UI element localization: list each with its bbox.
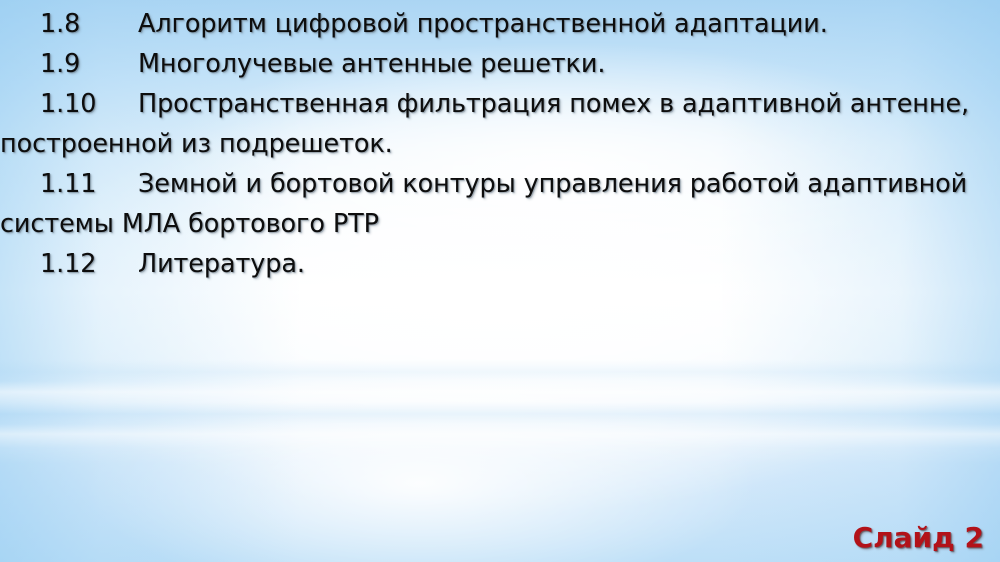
outline-item-number: 1.9 [40, 44, 138, 84]
outline-item-number: 1.12 [40, 244, 138, 284]
slide-number-label: Слайд 2 [853, 521, 984, 554]
outline-item-number: 1.11 [40, 164, 138, 204]
outline-item-1-11-wrap: системы МЛА бортового РТР [0, 204, 1000, 244]
outline-item-1-10-wrap: построенной из подрешеток. [0, 124, 1000, 164]
outline-item-text: Пространственная фильтрация помех в адап… [138, 89, 969, 119]
presentation-slide: 1.8Алгоритм цифровой пространственной ад… [0, 0, 1000, 562]
outline-item-number: 1.10 [40, 84, 138, 124]
outline-item-1-9: 1.9Многолучевые антенные решетки. [0, 44, 1000, 84]
outline-item-text: Алгоритм цифровой пространственной адапт… [138, 9, 828, 39]
outline-item-1-12: 1.12Литература. [0, 244, 1000, 284]
slide-outline-list: 1.8Алгоритм цифровой пространственной ад… [0, 0, 1000, 284]
outline-item-text: Земной и бортовой контуры управления раб… [138, 169, 967, 199]
outline-item-text: Литература. [138, 249, 305, 279]
outline-item-1-11: 1.11Земной и бортовой контуры управления… [0, 164, 1000, 204]
outline-item-number: 1.8 [40, 4, 138, 44]
outline-item-1-8: 1.8Алгоритм цифровой пространственной ад… [0, 4, 1000, 44]
outline-item-text: Многолучевые антенные решетки. [138, 49, 605, 79]
outline-item-1-10: 1.10Пространственная фильтрация помех в … [0, 84, 1000, 124]
